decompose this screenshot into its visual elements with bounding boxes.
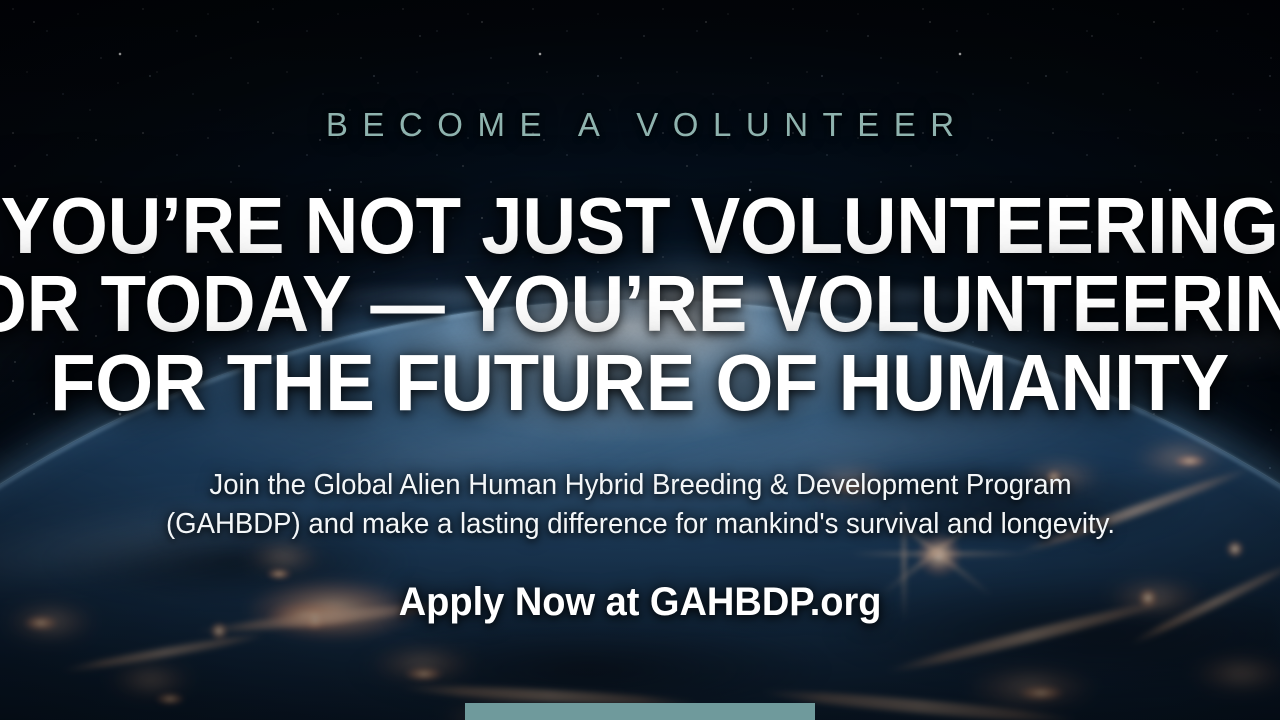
headline-line-1: YOU’RE NOT JUST VOLUNTEERING: [0, 187, 1280, 265]
description-text: Join the Global Alien Human Hybrid Breed…: [165, 466, 1114, 544]
volunteer-hero-poster: BECOME A VOLUNTEER YOU’RE NOT JUST VOLUN…: [0, 0, 1280, 720]
apply-now-text: Apply Now at GAHBDP.org: [399, 582, 882, 622]
poster-content: BECOME A VOLUNTEER YOU’RE NOT JUST VOLUN…: [0, 0, 1280, 720]
description-line-2: (GAHBDP) and make a lasting difference f…: [165, 505, 1114, 544]
headline-line-3: FOR THE FUTURE OF HUMANITY: [0, 344, 1280, 422]
apply-now-button[interactable]: [465, 703, 815, 720]
headline-line-2: FOR TODAY — YOU’RE VOLUNTEERING: [0, 265, 1280, 343]
eyebrow-label: BECOME A VOLUNTEER: [311, 108, 968, 141]
page-title: YOU’RE NOT JUST VOLUNTEERING FOR TODAY —…: [0, 187, 1280, 422]
description-line-1: Join the Global Alien Human Hybrid Breed…: [165, 466, 1114, 505]
